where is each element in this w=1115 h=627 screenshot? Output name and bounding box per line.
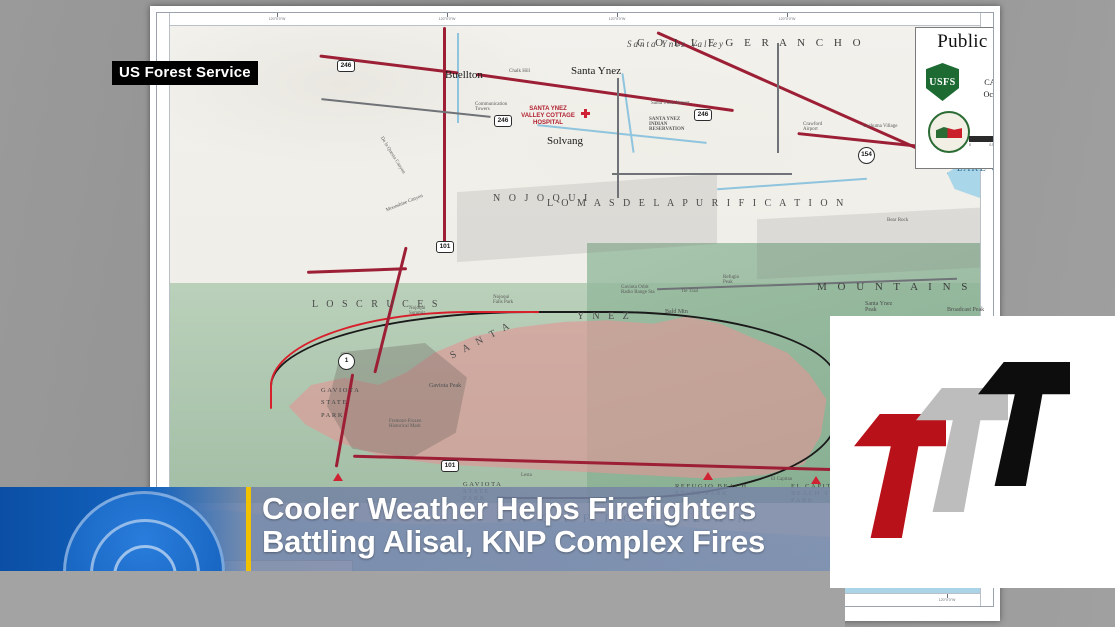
scale-units: Miles [969, 147, 994, 151]
feature-label: Fremont-Frozen Historical Mark [389, 419, 441, 429]
lower-third-footer [0, 571, 845, 627]
scale-tick: 0.5 [989, 143, 994, 147]
lower-third-text: Cooler Weather Helps Firefighters Battli… [262, 492, 862, 559]
highway-shield: 101 [441, 460, 459, 472]
feature-label: Santa Ynez Peak [865, 301, 905, 313]
local-road [777, 43, 779, 153]
feature-label: Santa Ynez Valley [627, 39, 725, 49]
feature-label: Communication Towers [475, 102, 515, 112]
area-label: M O U N T A I N S [817, 281, 971, 293]
feature-label: Tie Trail [681, 289, 698, 294]
area-label: Y N E Z [577, 311, 632, 322]
highway-shield: 154 [858, 147, 875, 164]
screenshot-root: 120°0'0"W 120°0'0"W 120°0'0"W 120°0'0"W … [0, 0, 1115, 627]
feature-label: Broadcast Peak [947, 307, 989, 313]
lower-third-line-2: Battling Alisal, KNP Complex Fires [262, 525, 862, 558]
hospital-label: SANTA YNEZ VALLEY COTTAGE HOSPITAL [517, 106, 579, 127]
highway-shield: 246 [337, 60, 355, 72]
public-information-panel: Public Information USFS CAL FIRE Approxi… [915, 27, 994, 169]
feature-label: Crawford Airport [803, 122, 837, 132]
logo-t-gray [916, 388, 1008, 512]
area-label: L O M A S D E L A P U R I F I C A T I O … [547, 198, 846, 209]
hospital-icon [581, 109, 590, 118]
feature-label: Refugio Peak [723, 275, 747, 285]
park-label: GAVIOTA STATE PARK [321, 385, 361, 422]
city-label: Solvang [547, 135, 583, 147]
feature-label: Chalk Hill [509, 69, 530, 74]
highway-shield: 1 [338, 353, 355, 370]
ridge-shade [757, 207, 993, 280]
local-road [612, 173, 792, 175]
coord-label: 120°0'0"W [269, 17, 286, 21]
county-seal-icon [928, 111, 970, 153]
scale-bar-graphic [969, 136, 994, 142]
logo-t-red [854, 414, 946, 538]
scale-bar: 0 0.5 1 2 3 Miles [969, 136, 994, 151]
feature-label: Bear Rock [887, 218, 908, 223]
feature-label: Santa Ynez Airport [651, 101, 689, 106]
feature-label: El Capitan [771, 477, 792, 482]
feature-label: Gaviota Orbit Radio Range Sta [621, 285, 661, 295]
local-road [617, 78, 619, 198]
incident-name: Alisal [983, 65, 994, 77]
highway-shield: 101 [436, 241, 454, 253]
scale-tick: 0 [969, 143, 971, 147]
logo-t-black [978, 362, 1070, 486]
feature-label: Lesta [521, 473, 532, 478]
feature-label: Gaviota Peak [429, 383, 463, 389]
coord-label: 120°0'0"W [609, 17, 626, 21]
highway-101-north [443, 27, 446, 247]
coord-label: 120°0'0"W [439, 17, 456, 21]
feature-label: Nojoqui Summit [409, 306, 437, 316]
public-information-title: Public Information [916, 31, 994, 53]
feature-label: Cachuma Village [863, 124, 899, 129]
source-attribution-tag: US Forest Service [112, 61, 258, 85]
coord-label: 120°0'0"W [939, 598, 956, 602]
incident-number: CA-LPF-002759 [983, 77, 994, 89]
usfs-shield-icon: USFS [926, 63, 959, 101]
highway-shield: 246 [494, 115, 512, 127]
feature-label: Nojoqui Falls Park [493, 295, 519, 305]
usfs-label: USFS [929, 77, 955, 88]
city-label: Buellton [445, 69, 483, 81]
incident-info: Alisal CA-LPF-002759 October 18, 2021 [983, 65, 994, 101]
station-logo-box [830, 316, 1115, 588]
highway-shield: 246 [694, 109, 712, 121]
map-margin-top: 120°0'0"W 120°0'0"W 120°0'0"W 120°0'0"W [157, 13, 993, 26]
city-label: Santa Ynez [571, 65, 621, 77]
incident-date: October 18, 2021 [983, 89, 994, 101]
coord-label: 120°0'0"W [779, 17, 796, 21]
feature-label: SANTA YNEZ INDIAN RESERVATION [649, 117, 693, 132]
lower-third-accent-bar [246, 487, 251, 571]
lower-third-line-1: Cooler Weather Helps Firefighters [262, 492, 862, 525]
feature-label: Bald Mtn [665, 309, 688, 315]
